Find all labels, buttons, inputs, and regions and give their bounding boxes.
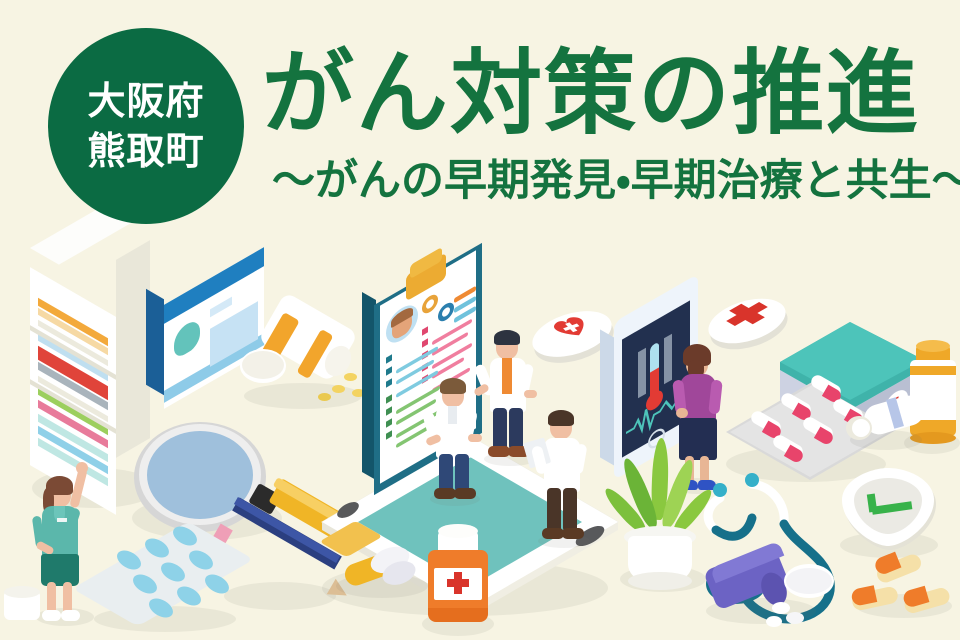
badge-line-prefecture: 大阪府 [87,76,204,126]
pill-bottle-open [240,305,370,410]
page-title: がん対策の推進 [262,46,920,143]
medical-illustration [0,250,960,640]
orange-capsules [852,550,960,630]
yellow-block-tablets [330,518,440,608]
white-small-bottle [0,580,50,640]
purple-pill-container [700,542,840,638]
page-subtitle: 〜がんの早期発見・早期治療と共生〜 [272,158,960,205]
prefecture-town-badge: 大阪府 熊取町 [48,28,244,224]
blister-pack-blue [88,530,248,640]
cancer-measures-banner: 大阪府 熊取町 がん対策の推進 〜がんの早期発見・早期治療と共生〜 [0,0,960,640]
badge-line-town: 熊取町 [87,126,204,176]
doctor-right [532,410,604,550]
tipped-tube [846,392,932,458]
